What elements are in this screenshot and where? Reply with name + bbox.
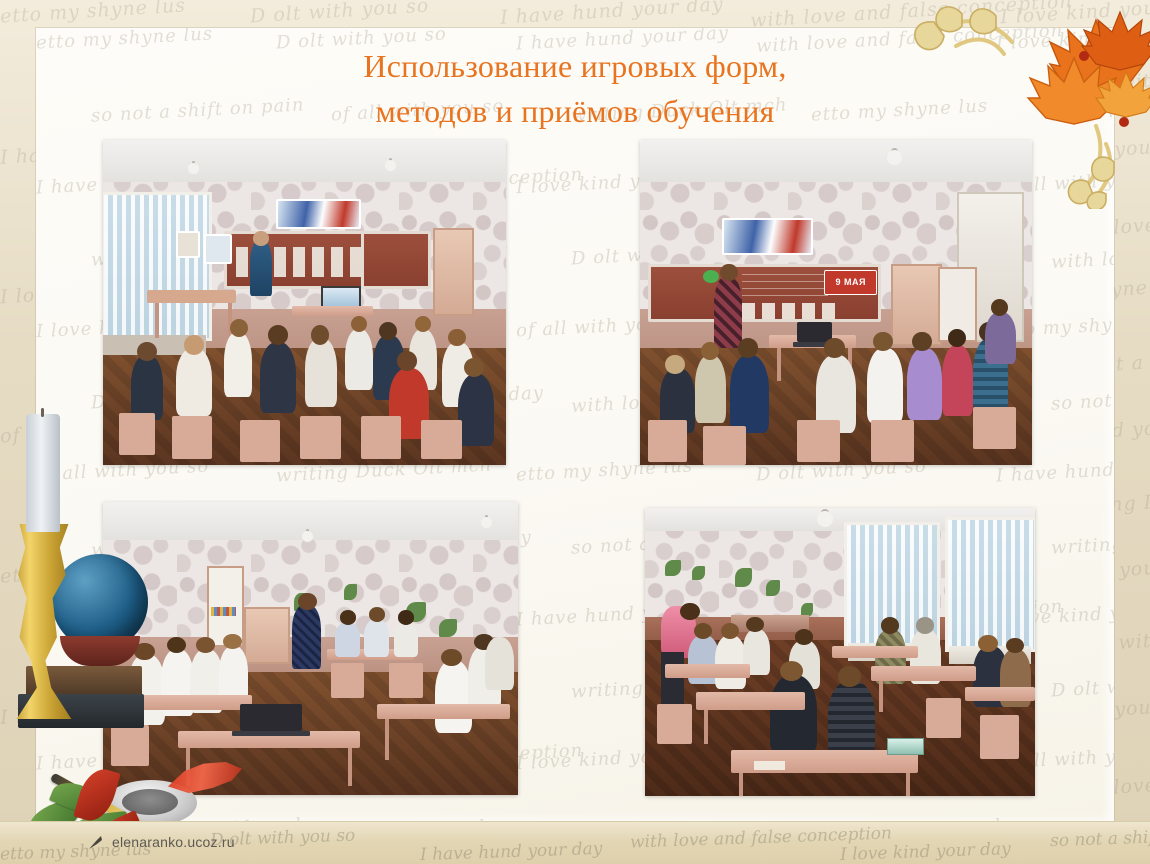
title-line-1: Использование игровых форм, <box>363 48 786 84</box>
footer-site-url: elenaranko.ucoz.ru <box>112 834 235 850</box>
candle-icon <box>26 414 60 532</box>
slide-root: etto my shyne lusD olt with you soI have… <box>0 0 1150 864</box>
photo-classroom-lesson-front[interactable] <box>103 140 506 465</box>
autumn-leaves-ornament-icon <box>900 0 1150 209</box>
photo-classroom-craft-activity[interactable] <box>645 508 1035 796</box>
quill-pen-small-icon <box>88 835 104 850</box>
victory-day-sign: 9 МАЯ <box>824 270 877 295</box>
